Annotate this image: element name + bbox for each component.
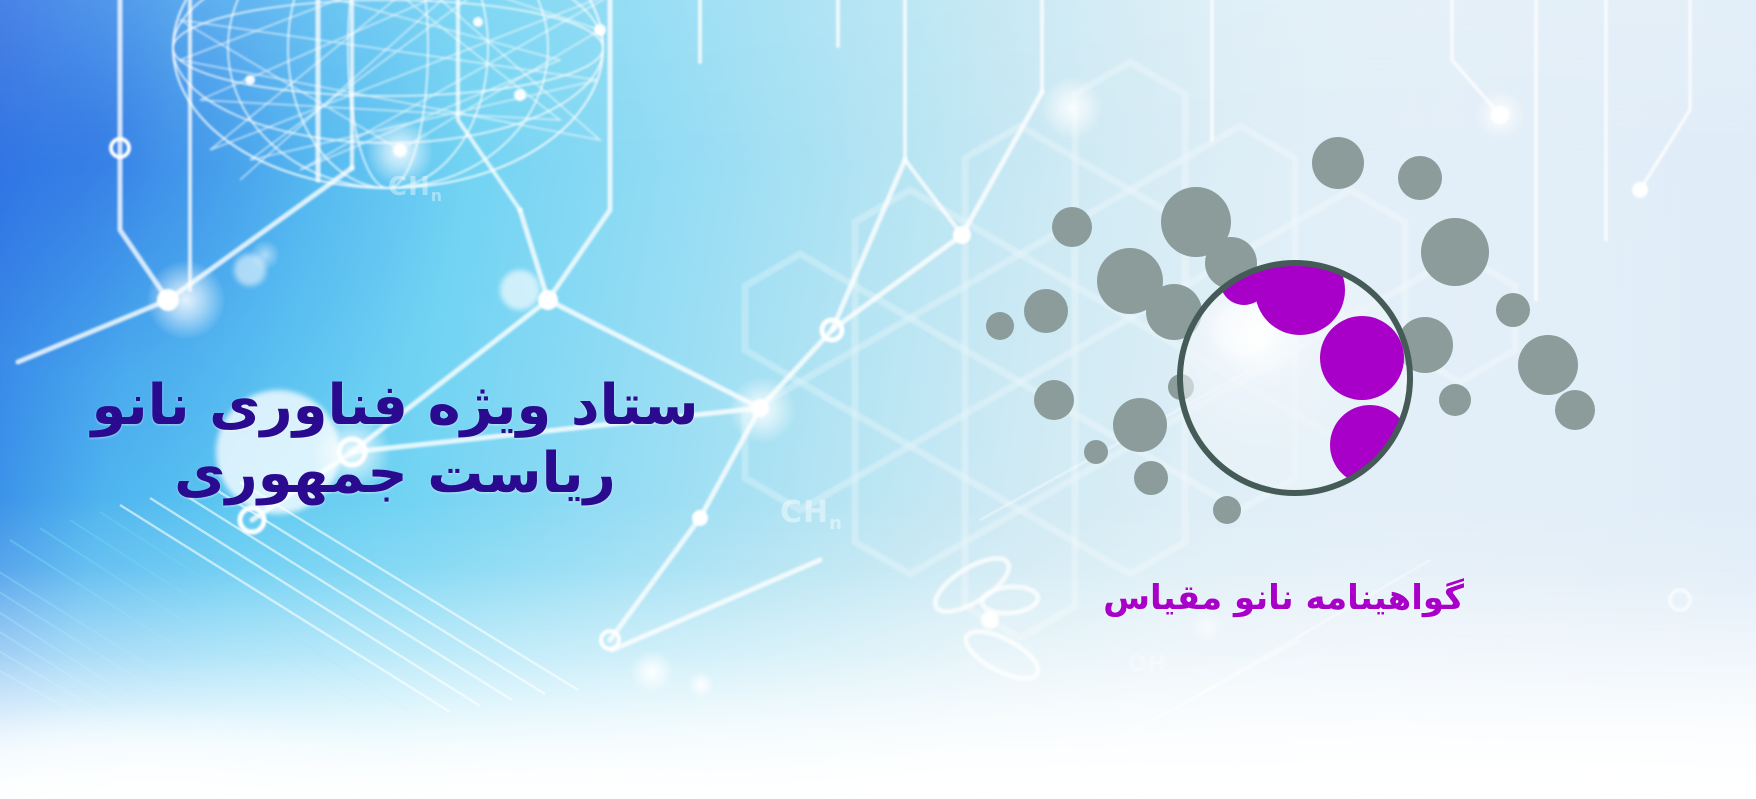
nano-certificate-banner: CHn CHn OH <box>0 0 1756 799</box>
headline-block: ستاد ویژه فناوری نانو ریاست جمهوری <box>0 372 790 509</box>
headline-line-1: ستاد ویژه فناوری نانو <box>0 372 790 440</box>
headline-line-2: ریاست جمهوری <box>0 440 790 508</box>
certificate-label: گواهینامه نانو مقیاس <box>1103 578 1464 618</box>
